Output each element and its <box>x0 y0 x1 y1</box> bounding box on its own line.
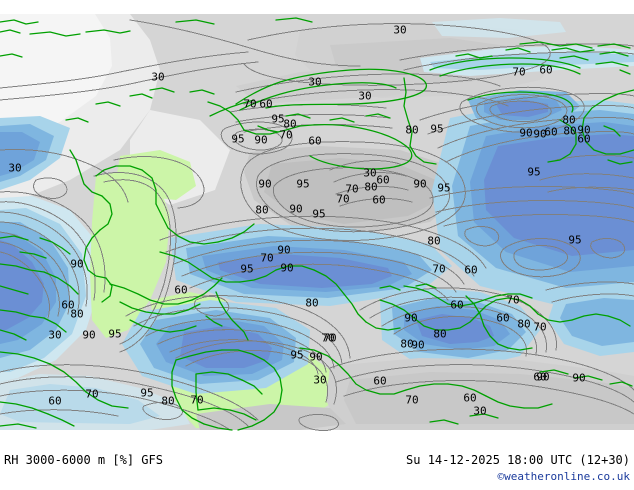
contour-label: 30 <box>48 330 61 341</box>
contour-label: 95 <box>568 235 581 246</box>
contour-label: 70 <box>336 194 349 205</box>
contour-label: 60 <box>48 396 61 407</box>
contour-label: 80 <box>427 236 440 247</box>
contour-label: 30 <box>473 406 486 417</box>
contour-label: 60 <box>450 300 463 311</box>
contour-label: 80 <box>364 182 377 193</box>
contour-label: 80 <box>400 339 413 350</box>
contour-label: 90 <box>277 245 290 256</box>
contour-label: 95 <box>290 350 303 361</box>
contour-label: 95 <box>430 124 443 135</box>
contour-label: 60 <box>577 134 590 145</box>
contour-label: 90 <box>519 128 532 139</box>
contour-label: 30 <box>308 77 321 88</box>
contour-label: 95 <box>312 209 325 220</box>
contour-label: 80 <box>405 125 418 136</box>
valid-time-label: Su 14-12-2025 18:00 UTC (12+30) <box>406 453 630 467</box>
map-canvas[interactable]: 3030303070607060958080958090906080609590… <box>0 0 634 434</box>
contour-label: 80 <box>255 205 268 216</box>
contour-label: 80 <box>517 319 530 330</box>
contour-label: 70 <box>533 322 546 333</box>
contour-label: 60 <box>533 372 546 383</box>
contour-label: 70 <box>432 264 445 275</box>
contour-label: 30 <box>363 168 376 179</box>
contour-label: 95 <box>231 134 244 145</box>
contour-label: 70 <box>260 253 273 264</box>
contour-label: 95 <box>437 183 450 194</box>
contour-label: 95 <box>108 329 121 340</box>
contour-label: 90 <box>258 179 271 190</box>
contour-label: 90 <box>533 129 546 140</box>
contour-label: 30 <box>313 375 326 386</box>
contour-label: 70 <box>512 67 525 78</box>
contour-label: 80 <box>161 396 174 407</box>
contour-label: 80 <box>563 126 576 137</box>
contour-label: 30 <box>393 25 406 36</box>
contour-label: 90 <box>82 330 95 341</box>
contour-label: 80 <box>305 298 318 309</box>
contour-label: 70 <box>279 130 292 141</box>
contour-label: 70 <box>321 333 334 344</box>
contour-label: 80 <box>70 309 83 320</box>
copyright-credit: ©weatheronline.co.uk <box>498 470 630 483</box>
contour-label: 90 <box>404 313 417 324</box>
contour-label: 60 <box>463 393 476 404</box>
contour-label: 70 <box>243 99 256 110</box>
contour-label: 90 <box>572 373 585 384</box>
contour-label: 60 <box>376 175 389 186</box>
parameter-label: RH 3000-6000 m [%] GFS <box>4 453 163 467</box>
contour-label: 70 <box>405 395 418 406</box>
contour-label: 90 <box>280 263 293 274</box>
contour-label: 90 <box>254 135 267 146</box>
contour-label: 95 <box>140 388 153 399</box>
weather-map-page: 3030303070607060958080958090906080609590… <box>0 0 634 490</box>
contour-label: 30 <box>358 91 371 102</box>
contour-label: 60 <box>372 195 385 206</box>
contour-label: 90 <box>309 352 322 363</box>
contour-label: 60 <box>308 136 321 147</box>
contour-label: 90 <box>413 179 426 190</box>
contour-label: 70 <box>85 389 98 400</box>
contour-label: 30 <box>151 72 164 83</box>
contour-label: 60 <box>464 265 477 276</box>
contour-label: 60 <box>373 376 386 387</box>
contour-label: 70 <box>506 295 519 306</box>
contour-label: 90 <box>70 259 83 270</box>
footer-bar: RH 3000-6000 m [%] GFS Su 14-12-2025 18:… <box>0 434 634 490</box>
contour-label: 60 <box>174 285 187 296</box>
contour-label: 60 <box>539 65 552 76</box>
contour-label: 95 <box>296 179 309 190</box>
contour-label: 60 <box>496 313 509 324</box>
contour-label: 95 <box>527 167 540 178</box>
contour-label: 90 <box>289 204 302 215</box>
contour-label: 80 <box>433 329 446 340</box>
contour-label: 95 <box>240 264 253 275</box>
contour-label: 60 <box>259 99 272 110</box>
contour-label: 30 <box>8 163 21 174</box>
contour-label: 70 <box>190 395 203 406</box>
